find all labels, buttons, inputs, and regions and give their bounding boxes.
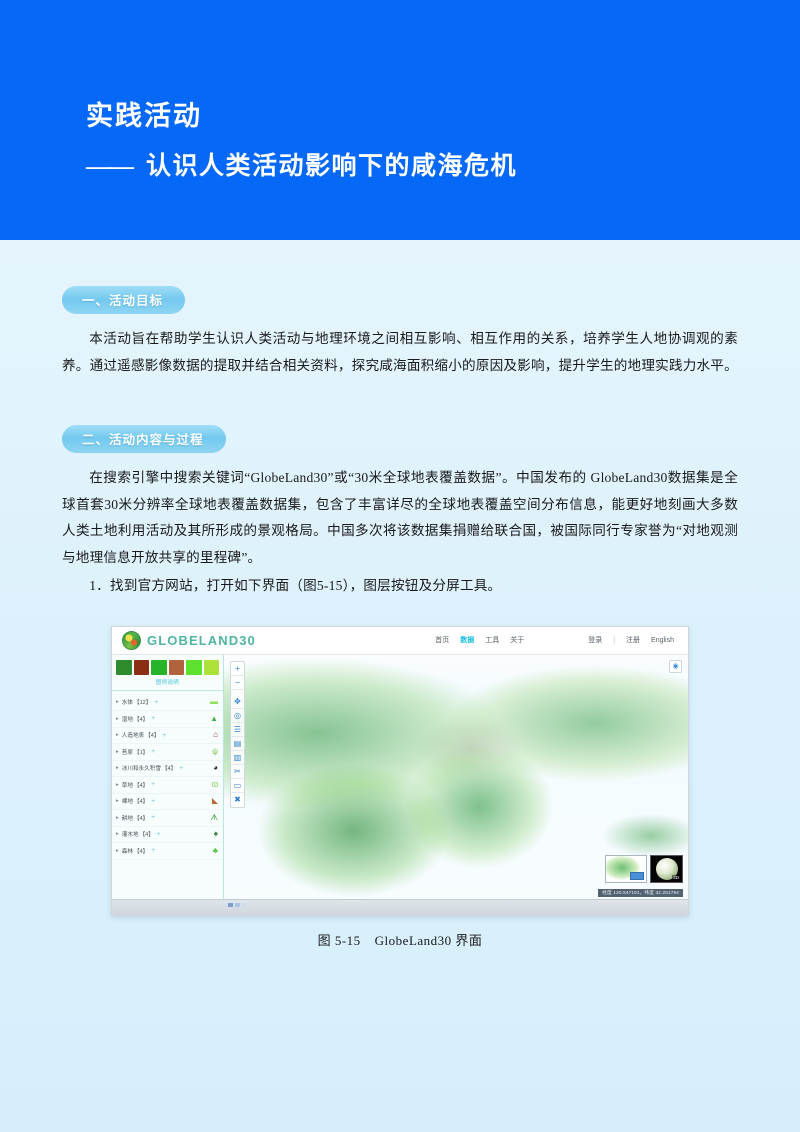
- pan-tool-icon[interactable]: ✥: [231, 695, 244, 709]
- chevron-right-icon[interactable]: ▸: [116, 815, 119, 821]
- layer-item-tundra[interactable]: ▸ 苔原 【1】 + ψ: [112, 744, 223, 761]
- layer-add-icon[interactable]: +: [151, 814, 155, 821]
- layer-add-icon[interactable]: +: [162, 732, 166, 739]
- clip-tool-icon[interactable]: ✂: [231, 765, 244, 779]
- chevron-right-icon[interactable]: ▸: [116, 699, 119, 705]
- layer-label: 裸地: [122, 797, 133, 805]
- nav-item-data[interactable]: 数据: [460, 635, 474, 645]
- layer-item-cultivated-land[interactable]: ▸ 耕地 【4】 + ᗑ: [112, 810, 223, 827]
- nav-separator: |: [613, 637, 615, 644]
- section-paragraph: 本活动旨在帮助学生认识人类活动与地理环境之间相互影响、相互作用的关系，培养学生人…: [62, 326, 738, 379]
- layer-list-tool-icon[interactable]: ☰: [231, 723, 244, 737]
- app-footer-bar: [112, 899, 688, 915]
- section-step-item: 1．找到官方网站，打开如下界面（图5-15），图层按钮及分屏工具。: [62, 573, 738, 600]
- layer-type-icon: ᗑ: [210, 814, 218, 822]
- layer-count: 【4】: [134, 797, 148, 805]
- nav-language-link[interactable]: English: [651, 637, 674, 644]
- globeland30-screenshot: GLOBELAND30 首页 数据 工具 关于 登录 | 注册 English: [111, 626, 689, 916]
- map-overview-group: 3D: [605, 855, 683, 883]
- layer-add-icon[interactable]: +: [151, 798, 155, 805]
- subtitle-dash: ——: [86, 153, 132, 181]
- page-title: 实践活动: [86, 100, 746, 134]
- layer-count: 【4】: [145, 731, 159, 739]
- layer-type-icon: ♠: [214, 830, 218, 838]
- layer-count: 【4】: [140, 830, 154, 838]
- overview-map-thumbnail[interactable]: [605, 855, 647, 883]
- layer-type-icon: ◕: [213, 764, 218, 772]
- section-heading-badge: 二、活动内容与过程: [62, 425, 226, 453]
- split-screen-tool-icon[interactable]: ▤: [231, 737, 244, 751]
- chevron-right-icon[interactable]: ▸: [116, 765, 119, 771]
- layer-type-icon: ϖ: [212, 781, 218, 789]
- layer-label: 湿地: [122, 715, 133, 723]
- figure-caption-text: GlobeLand30 界面: [375, 933, 483, 948]
- chevron-right-icon[interactable]: ▸: [116, 848, 119, 854]
- coordinate-readout: 经度 120.547191，纬度 32.251784: [598, 889, 683, 897]
- legend-swatch[interactable]: [151, 660, 167, 675]
- nav-register-link[interactable]: 注册: [626, 635, 640, 645]
- layer-label: 森林: [122, 847, 133, 855]
- legend-swatch[interactable]: [134, 660, 150, 675]
- chevron-right-icon[interactable]: ▸: [116, 716, 119, 722]
- subtitle-text: 认识人类活动影响下的咸海危机: [146, 153, 517, 180]
- layer-label: 水体: [122, 698, 133, 706]
- section-activity-goals: 一、活动目标 本活动旨在帮助学生认识人类活动与地理环境之间相互影响、相互作用的关…: [62, 240, 738, 379]
- banner-text-block: 实践活动 ——认识人类活动影响下的咸海危机: [86, 100, 746, 182]
- layer-item-shrubland[interactable]: ▸ 灌木地 【4】 + ♠: [112, 827, 223, 844]
- page-header-banner: 实践活动 ——认识人类活动影响下的咸海危机: [0, 0, 800, 240]
- chevron-right-icon[interactable]: ▸: [116, 831, 119, 837]
- page-subtitle: ——认识人类活动影响下的咸海危机: [86, 146, 746, 182]
- layer-count: 【12】: [134, 698, 151, 706]
- layer-add-icon[interactable]: +: [151, 715, 155, 722]
- app-sidebar: 图例说明 ▸ 水体 【12】 + ▬ ▸ 湿地 【4】 + ▲: [112, 655, 224, 899]
- layer-count: 【4】: [134, 781, 148, 789]
- figure-block: GLOBELAND30 首页 数据 工具 关于 登录 | 注册 English: [62, 626, 738, 949]
- layer-count: 【4】: [134, 847, 148, 855]
- globe-view-label: 3D: [672, 875, 680, 880]
- section-activity-content: 二、活动内容与过程 在搜索引擎中搜索关键词“GlobeLand30”或“30米全…: [62, 379, 738, 600]
- layer-type-icon: ▬: [210, 698, 218, 706]
- layer-label: 灌木地: [122, 830, 139, 838]
- legend-description-link[interactable]: 图例说明: [112, 678, 223, 691]
- layer-label: 人造地表: [122, 731, 144, 739]
- app-logo-text: GLOBELAND30: [147, 633, 256, 648]
- figure-caption: 图 5-15GlobeLand30 界面: [318, 930, 483, 949]
- layer-list: ▸ 水体 【12】 + ▬ ▸ 湿地 【4】 + ▲ ▸: [112, 691, 223, 860]
- map-tool-strip: + − ✥ ◎ ☰ ▤ ▥ ✂ ▭ ✖: [230, 661, 245, 808]
- layer-item-water[interactable]: ▸ 水体 【12】 + ▬: [112, 695, 223, 712]
- legend-swatch[interactable]: [204, 660, 220, 675]
- layer-add-icon[interactable]: +: [157, 831, 161, 838]
- chevron-right-icon[interactable]: ▸: [116, 798, 119, 804]
- locate-tool-icon[interactable]: ◎: [231, 709, 244, 723]
- basemap-switch-icon[interactable]: ◉: [669, 660, 682, 673]
- layer-label: 耕地: [122, 814, 133, 822]
- figure-number: 图 5-15: [318, 933, 361, 948]
- nav-item-about[interactable]: 关于: [510, 635, 524, 645]
- chevron-right-icon[interactable]: ▸: [116, 782, 119, 788]
- layer-type-icon: ♣: [213, 847, 218, 855]
- clear-tool-icon[interactable]: ✖: [231, 793, 244, 807]
- layer-item-bare-land[interactable]: ▸ 裸地 【4】 + ◣: [112, 794, 223, 811]
- layer-type-icon: ⌂: [213, 731, 218, 739]
- layer-label: 草地: [122, 781, 133, 789]
- legend-swatch[interactable]: [186, 660, 202, 675]
- nav-login-link[interactable]: 登录: [588, 635, 602, 645]
- legend-swatch-row: [112, 655, 223, 678]
- layer-add-icon[interactable]: +: [154, 699, 158, 706]
- overview-extent-box: [630, 872, 644, 880]
- layer-label: 冰川和永久积雪: [122, 764, 161, 772]
- rectangle-select-icon[interactable]: ▭: [231, 779, 244, 793]
- compare-tool-icon[interactable]: ▥: [231, 751, 244, 765]
- layer-count: 【4】: [162, 764, 176, 772]
- nav-item-tools[interactable]: 工具: [485, 635, 499, 645]
- nav-item-home[interactable]: 首页: [435, 635, 449, 645]
- layer-add-icon[interactable]: +: [151, 847, 155, 854]
- chevron-right-icon[interactable]: ▸: [116, 732, 119, 738]
- layer-item-glacier-snow[interactable]: ▸ 冰川和永久积雪 【4】 + ◕: [112, 761, 223, 778]
- layer-count: 【4】: [134, 814, 148, 822]
- layer-item-wetland[interactable]: ▸ 湿地 【4】 + ▲: [112, 711, 223, 728]
- zoom-in-button[interactable]: +: [231, 662, 244, 676]
- layer-type-icon: ◣: [212, 797, 218, 805]
- legend-swatch[interactable]: [169, 660, 185, 675]
- section-heading-badge: 一、活动目标: [62, 286, 185, 314]
- layer-type-icon: ▲: [210, 715, 218, 723]
- legend-swatch[interactable]: [116, 660, 132, 675]
- globe-view-thumbnail[interactable]: 3D: [650, 855, 683, 883]
- layer-item-forest[interactable]: ▸ 森林 【4】 + ♣: [112, 843, 223, 860]
- layer-add-icon[interactable]: +: [179, 765, 183, 772]
- zoom-out-button[interactable]: −: [231, 676, 244, 690]
- layer-count: 【4】: [134, 715, 148, 723]
- map-canvas[interactable]: + − ✥ ◎ ☰ ▤ ▥ ✂ ▭ ✖ ◉: [224, 655, 688, 899]
- app-nav: 首页 数据 工具 关于 登录 | 注册 English: [435, 635, 678, 645]
- chevron-right-icon[interactable]: ▸: [116, 749, 119, 755]
- layer-item-artificial-surface[interactable]: ▸ 人造地表 【4】 + ⌂: [112, 728, 223, 745]
- layer-count: 【1】: [134, 748, 148, 756]
- layer-add-icon[interactable]: +: [151, 781, 155, 788]
- section-paragraph: 在搜索引擎中搜索关键词“GlobeLand30”或“30米全球地表覆盖数据”。中…: [62, 465, 738, 571]
- app-header-bar: GLOBELAND30 首页 数据 工具 关于 登录 | 注册 English: [112, 627, 688, 655]
- layer-add-icon[interactable]: +: [151, 748, 155, 755]
- layer-type-icon: ψ: [212, 748, 218, 756]
- footer-status-dots: [228, 903, 247, 907]
- layer-label: 苔原: [122, 748, 133, 756]
- globeland30-logo-icon: [122, 631, 141, 650]
- page-content: 一、活动目标 本活动旨在帮助学生认识人类活动与地理环境之间相互影响、相互作用的关…: [0, 240, 800, 949]
- layer-item-grassland[interactable]: ▸ 草地 【4】 + ϖ: [112, 777, 223, 794]
